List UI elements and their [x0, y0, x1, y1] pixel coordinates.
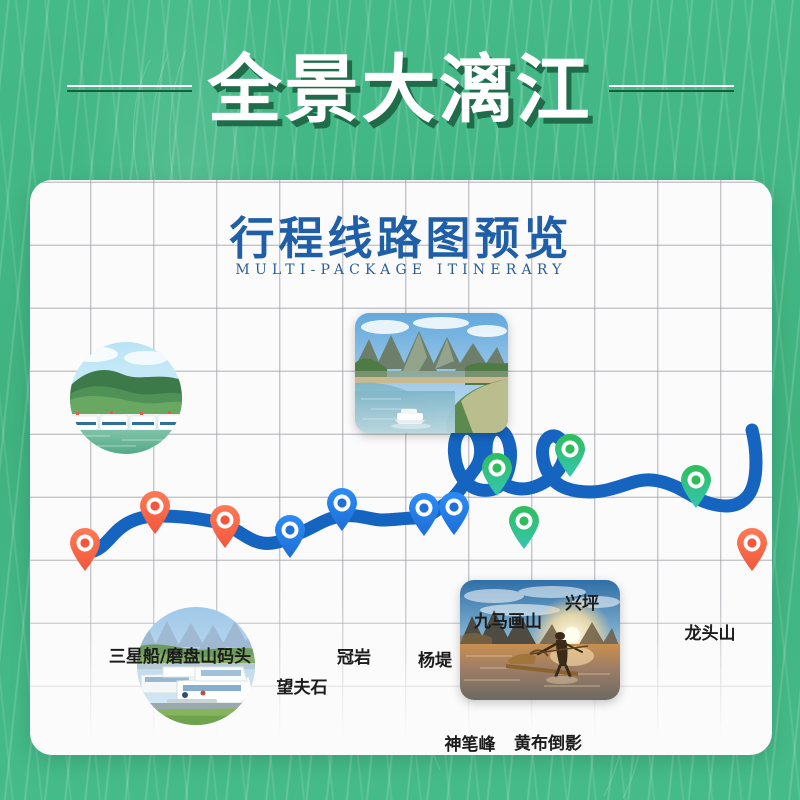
- photo-mopanshan-dock: [70, 342, 182, 454]
- header-rule-right: [609, 85, 734, 95]
- page-title: 全景大漓江: [192, 53, 609, 127]
- map-pin-wangfushi[interactable]: [273, 515, 307, 559]
- photo-lijiang-cruise: [355, 313, 508, 433]
- map-label-huangbudaoying: 黄布倒影: [514, 736, 582, 753]
- map-pin-jiumahuashan[interactable]: [480, 453, 514, 497]
- map-label-longtoushan: 龙头山: [685, 626, 736, 643]
- itinerary-card: 行程线路图预览 MULTI-PACKAGE ITINERARY: [30, 180, 772, 755]
- map-label-guanyan: 冠岩: [337, 650, 371, 667]
- map-pin-yangdi[interactable]: [407, 493, 441, 537]
- map-pin-huangbudaoying[interactable]: [507, 506, 541, 550]
- header-rule-left: [67, 85, 192, 95]
- map-label-wangfushi: 望夫石: [277, 680, 328, 697]
- map-pin-guilin[interactable]: [68, 528, 102, 572]
- map-pin-mopanshan-dock[interactable]: [138, 491, 172, 535]
- map-pin-guanyan[interactable]: [325, 488, 359, 532]
- map-pin-longtoushan[interactable]: [679, 465, 713, 509]
- poster-header: 全景大漓江: [0, 0, 800, 180]
- map-label-yangdi: 杨堤: [418, 653, 452, 670]
- map-label-xingping: 兴坪: [565, 596, 599, 613]
- map-pin-zhujiang-dock[interactable]: [208, 505, 242, 549]
- poster-root: 全景大漓江 行程线路图预览 MULTI-PACKAGE ITINERARY: [0, 0, 800, 800]
- map-label-jiumahuashan: 九马画山: [474, 614, 542, 631]
- map-pin-yangshuo-dock[interactable]: [735, 528, 769, 572]
- map-pin-xingping[interactable]: [553, 434, 587, 478]
- route-map: 桂林 三星船/磨盘山码头 四星船/竹江码头: [30, 180, 772, 755]
- map-label-mopanshan-dock: 三星船/磨盘山码头: [109, 649, 251, 666]
- map-label-shenbifeng: 神笔峰: [445, 737, 496, 754]
- map-pin-shenbifeng[interactable]: [437, 492, 471, 536]
